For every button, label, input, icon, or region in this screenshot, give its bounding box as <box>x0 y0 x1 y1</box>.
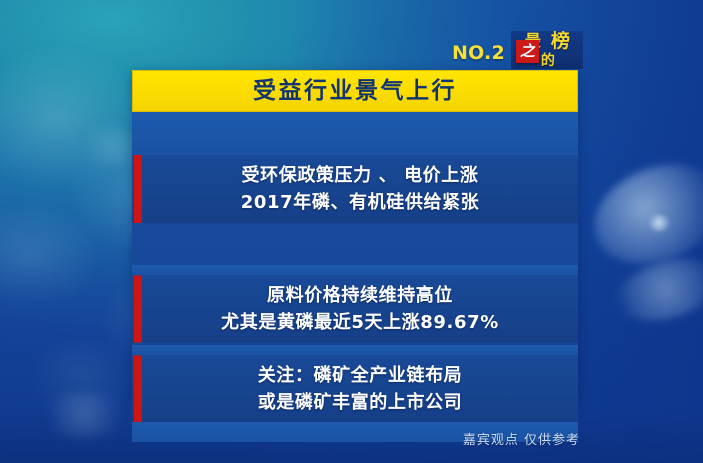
rank-and-brand-row: NO.2 最 榜 的 之 <box>452 31 583 69</box>
content-panel: 受益行业景气上行 受环保政策压力 、 电价上涨 2017年磷、有机硅供给紧张 原… <box>132 70 578 402</box>
broadcast-graphic-stage: NO.2 最 榜 的 之 受益行业景气上行 受环保政策压力 、 电价上涨 201… <box>0 0 703 463</box>
brand-logo: 最 榜 的 之 <box>511 31 583 69</box>
panel-title-text: 受益行业景气上行 <box>253 80 457 103</box>
bullet-block-1: 受环保政策压力 、 电价上涨 2017年磷、有机硅供给紧张 <box>132 155 578 223</box>
bullet-block-3-line-1: 关注：磷矿全产业链布局 <box>142 362 578 389</box>
accent-bar-1 <box>134 155 142 223</box>
bullet-block-1-line-1: 受环保政策压力 、 电价上涨 <box>142 162 578 189</box>
rank-number-label: NO.2 <box>452 44 505 69</box>
block-separator-1 <box>132 265 578 275</box>
block-separator-top <box>132 112 578 155</box>
bullet-block-3: 关注：磷矿全产业链布局 或是磷矿丰富的上市公司 <box>132 355 578 422</box>
block-separator-2 <box>132 345 578 355</box>
bullet-block-1-line-2: 2017年磷、有机硅供给紧张 <box>142 189 578 216</box>
brand-logo-badge: 之 <box>516 40 539 63</box>
panel-title-bar: 受益行业景气上行 <box>132 70 578 112</box>
bullet-block-2-line-2: 尤其是黄磷最近5天上涨89.67% <box>142 309 578 336</box>
bullet-block-2-lines: 原料价格持续维持高位 尤其是黄磷最近5天上涨89.67% <box>132 282 578 336</box>
bullet-block-3-lines: 关注：磷矿全产业链布局 或是磷矿丰富的上市公司 <box>132 362 578 416</box>
panel-block-list: 受环保政策压力 、 电价上涨 2017年磷、有机硅供给紧张 原料价格持续维持高位… <box>132 112 578 402</box>
accent-bar-3 <box>134 355 142 422</box>
brand-logo-char-zhi: 之 <box>520 44 535 59</box>
accent-bar-2 <box>134 275 142 342</box>
brand-logo-char-de: 的 <box>541 54 555 68</box>
disclaimer-text: 嘉宾观点 仅供参考 <box>0 429 580 448</box>
bullet-block-1-lines: 受环保政策压力 、 电价上涨 2017年磷、有机硅供给紧张 <box>132 162 578 216</box>
bullet-block-3-line-2: 或是磷矿丰富的上市公司 <box>142 389 578 416</box>
bullet-block-2: 原料价格持续维持高位 尤其是黄磷最近5天上涨89.67% <box>132 275 578 342</box>
brand-logo-char-bang: 榜 <box>551 32 570 51</box>
bullet-block-2-line-1: 原料价格持续维持高位 <box>142 282 578 309</box>
